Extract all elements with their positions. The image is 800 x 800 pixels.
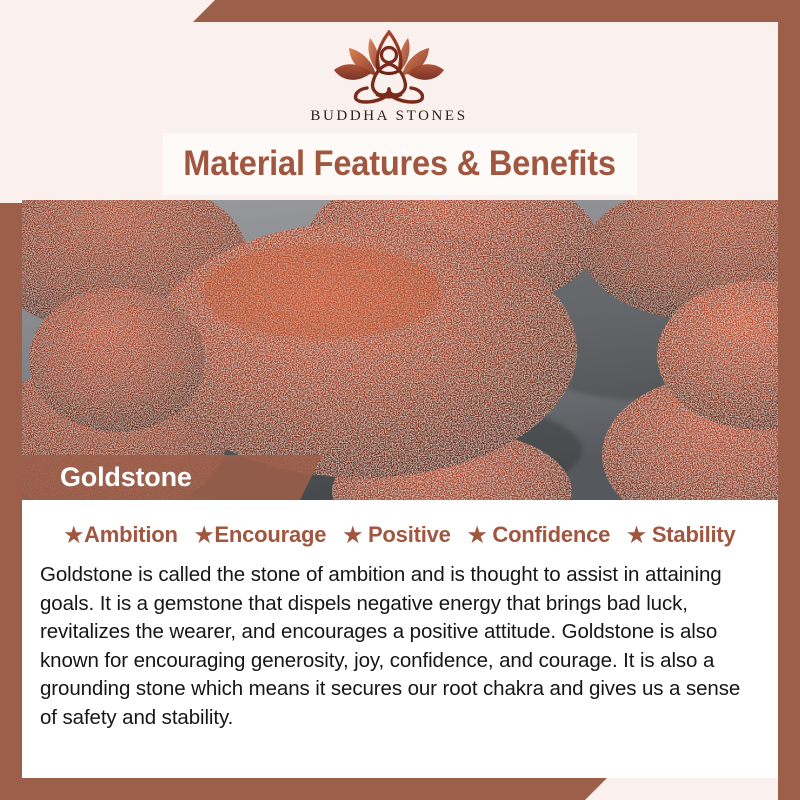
star-icon: ★ (343, 525, 362, 546)
keyword-list: ★Ambition ★Encourage ★Positive ★Confiden… (32, 522, 768, 548)
keyword-confidence: ★Confidence (468, 522, 610, 548)
title-panel: Material Features & Benefits (163, 133, 637, 195)
description-card: ★Ambition ★Encourage ★Positive ★Confiden… (22, 500, 778, 778)
keyword-encourage: ★Encourage (195, 522, 327, 548)
stone-name-badge: Goldstone (22, 455, 322, 500)
keyword-stability: ★Stability (627, 522, 735, 548)
keyword-label: Ambition (84, 522, 178, 548)
keyword-label: Encourage (214, 522, 326, 548)
stone-name: Goldstone (60, 462, 192, 493)
frame-border-top (0, 0, 800, 22)
lotus-meditation-logo-icon (323, 30, 455, 104)
keyword-label: Confidence (492, 522, 610, 548)
keyword-ambition: ★Ambition (64, 522, 177, 548)
keyword-positive: ★Positive (343, 522, 450, 548)
star-icon: ★ (64, 525, 83, 546)
frame-border-right (778, 0, 800, 800)
frame-border-left (0, 203, 22, 800)
title-band: Material Features & Benefits (0, 133, 778, 200)
star-icon: ★ (195, 525, 214, 546)
star-icon: ★ (468, 525, 487, 546)
keyword-label: Positive (368, 522, 451, 548)
keyword-label: Stability (652, 522, 736, 548)
brand-header: BUDDHA STONES (0, 22, 778, 133)
page-title: Material Features & Benefits (184, 144, 617, 184)
frame-border-bottom (0, 778, 800, 800)
stone-description: Goldstone is called the stone of ambitio… (32, 561, 768, 732)
star-icon: ★ (627, 525, 646, 546)
brand-name: BUDDHA STONES (310, 108, 467, 125)
